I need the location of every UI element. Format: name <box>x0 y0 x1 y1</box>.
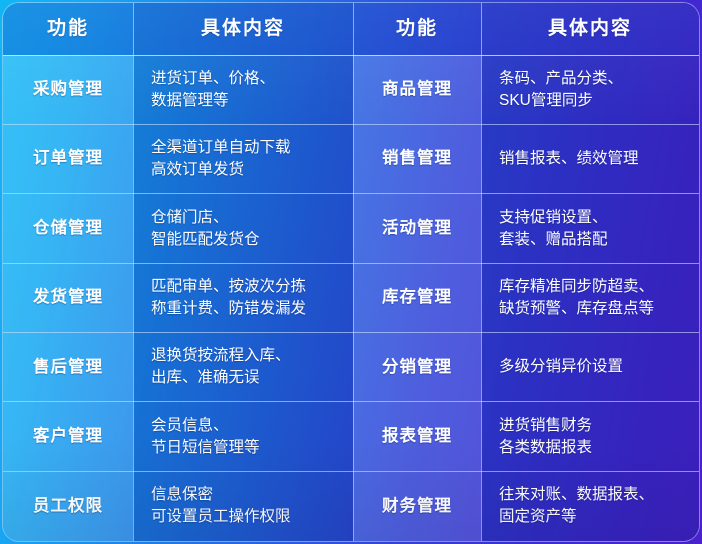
table-row: 进货销售财务 各类数据报表 <box>481 402 699 471</box>
column-header-label: 功能 <box>47 16 89 43</box>
column-header-label: 功能 <box>396 16 438 43</box>
content-text: 多级分销异价设置 <box>499 356 623 378</box>
table-row: 客户管理 <box>3 402 133 471</box>
content-text: 进货订单、价格、 数据管理等 <box>151 68 275 112</box>
content-text: 会员信息、 节日短信管理等 <box>151 415 260 459</box>
content-text: 仓储门店、 智能匹配发货仓 <box>151 207 260 251</box>
content-text: 库存精准同步防超卖、 缺货预警、库存盘点等 <box>499 276 654 320</box>
column-header-function-left: 功能 <box>3 3 133 55</box>
table-row: 全渠道订单自动下载 高效订单发货 <box>133 124 353 193</box>
function-label: 分销管理 <box>382 356 452 379</box>
table-row: 售后管理 <box>3 333 133 402</box>
column-header-function-right: 功能 <box>353 3 481 55</box>
function-label: 仓储管理 <box>33 217 103 240</box>
table-row: 匹配审单、按波次分拣 称重计费、防错发漏发 <box>133 263 353 332</box>
table-row: 多级分销异价设置 <box>481 333 699 402</box>
column-header-label: 具体内容 <box>548 16 632 43</box>
column-header-label: 具体内容 <box>201 16 285 43</box>
table-row: 销售报表、绩效管理 <box>481 124 699 193</box>
table-row: 商品管理 <box>353 55 481 124</box>
content-text: 进货销售财务 各类数据报表 <box>499 415 592 459</box>
table-row: 仓储管理 <box>3 194 133 263</box>
function-label: 订单管理 <box>33 147 103 170</box>
content-text: 全渠道订单自动下载 高效订单发货 <box>151 137 291 181</box>
function-label: 销售管理 <box>382 147 452 170</box>
table-row: 销售管理 <box>353 124 481 193</box>
content-text: 信息保密 可设置员工操作权限 <box>151 484 291 528</box>
function-label: 发货管理 <box>33 286 103 309</box>
table-grid: 功能 具体内容 功能 具体内容 采购管理 进货订单、价格、 数据管理等 商品管理… <box>3 3 699 541</box>
table-row: 分销管理 <box>353 333 481 402</box>
function-label: 商品管理 <box>382 78 452 101</box>
table-row: 活动管理 <box>353 194 481 263</box>
feature-comparison-table: 功能 具体内容 功能 具体内容 采购管理 进货订单、价格、 数据管理等 商品管理… <box>3 3 699 541</box>
content-text: 往来对账、数据报表、 固定资产等 <box>499 484 654 528</box>
table-row: 报表管理 <box>353 402 481 471</box>
table-row: 会员信息、 节日短信管理等 <box>133 402 353 471</box>
content-text: 销售报表、绩效管理 <box>499 148 639 170</box>
function-label: 财务管理 <box>382 495 452 518</box>
function-label: 员工权限 <box>33 495 103 518</box>
table-row: 发货管理 <box>3 263 133 332</box>
function-label: 售后管理 <box>33 356 103 379</box>
table-row: 条码、产品分类、 SKU管理同步 <box>481 55 699 124</box>
function-label: 采购管理 <box>33 78 103 101</box>
table-row: 信息保密 可设置员工操作权限 <box>133 472 353 541</box>
content-text: 条码、产品分类、 SKU管理同步 <box>499 68 623 112</box>
table-row: 财务管理 <box>353 472 481 541</box>
table-row: 退换货按流程入库、 出库、准确无误 <box>133 333 353 402</box>
table-row: 订单管理 <box>3 124 133 193</box>
table-row: 采购管理 <box>3 55 133 124</box>
table-row: 仓储门店、 智能匹配发货仓 <box>133 194 353 263</box>
table-row: 支持促销设置、 套装、赠品搭配 <box>481 194 699 263</box>
content-text: 退换货按流程入库、 出库、准确无误 <box>151 345 291 389</box>
table-row: 员工权限 <box>3 472 133 541</box>
column-header-content-right: 具体内容 <box>481 3 699 55</box>
table-row: 库存管理 <box>353 263 481 332</box>
table-row: 进货订单、价格、 数据管理等 <box>133 55 353 124</box>
function-label: 活动管理 <box>382 217 452 240</box>
function-label: 库存管理 <box>382 286 452 309</box>
column-header-content-left: 具体内容 <box>133 3 353 55</box>
content-text: 匹配审单、按波次分拣 称重计费、防错发漏发 <box>151 276 306 320</box>
table-row: 库存精准同步防超卖、 缺货预警、库存盘点等 <box>481 263 699 332</box>
content-text: 支持促销设置、 套装、赠品搭配 <box>499 207 608 251</box>
function-label: 客户管理 <box>33 425 103 448</box>
function-label: 报表管理 <box>382 425 452 448</box>
table-row: 往来对账、数据报表、 固定资产等 <box>481 472 699 541</box>
